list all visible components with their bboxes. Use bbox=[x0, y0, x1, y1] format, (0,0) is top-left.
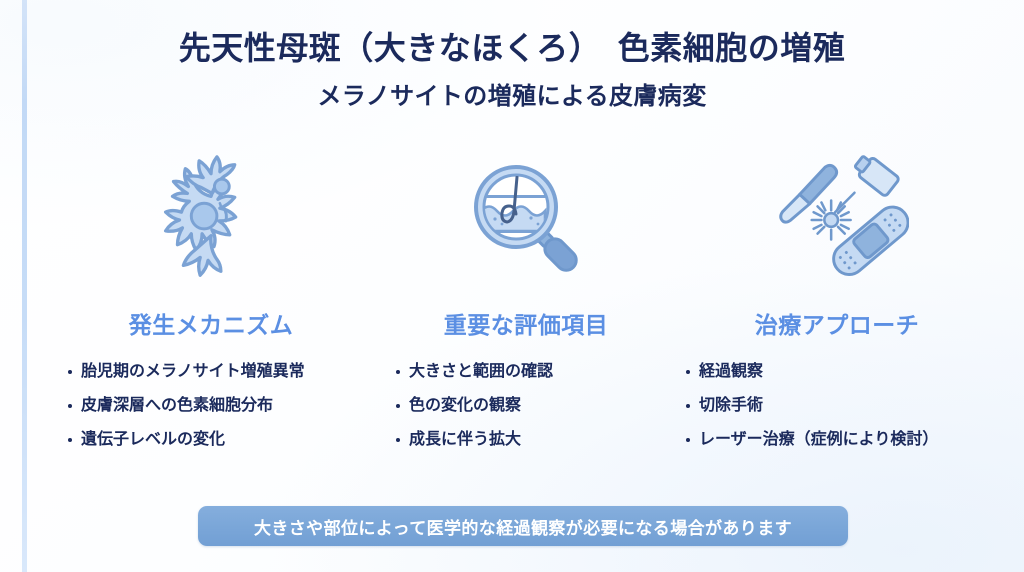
page-title: 先天性母斑（大きなほくろ） 色素細胞の増殖 bbox=[0, 28, 1024, 68]
column-heading-treatment: 治療アプローチ bbox=[755, 312, 920, 340]
column-assessment: 重要な評価項目 大きさと範囲の確認 色の変化の観察 成長に伴う拡大 bbox=[376, 150, 676, 464]
column-heading-assessment: 重要な評価項目 bbox=[444, 312, 609, 340]
skin-magnifier-icon bbox=[451, 150, 601, 290]
bullet-list-mechanism: 胎児期のメラノサイト増殖異常 皮膚深層への色素細胞分布 遺伝子レベルの変化 bbox=[46, 362, 398, 464]
slide-header: 先天性母斑（大きなほくろ） 色素細胞の増殖 メラノサイトの増殖による皮膚病変 bbox=[0, 28, 1024, 112]
treatment-tools-icon bbox=[762, 150, 912, 290]
bullet-list-assessment: 大きさと範囲の確認 色の変化の観察 成長に伴う拡大 bbox=[376, 362, 696, 464]
list-item: 経過観察 bbox=[686, 362, 1008, 382]
bullet-list-treatment: 経過観察 切除手術 レーザー治療（症例により検討） bbox=[676, 362, 1008, 464]
footer-note-banner: 大きさや部位によって医学的な経過観察が必要になる場合があります bbox=[198, 506, 848, 546]
list-item: 色の変化の観察 bbox=[396, 396, 696, 416]
slide-root: 先天性母斑（大きなほくろ） 色素細胞の増殖 メラノサイトの増殖による皮膚病変 bbox=[0, 0, 1024, 572]
list-item: 遺伝子レベルの変化 bbox=[68, 430, 398, 450]
list-item: 切除手術 bbox=[686, 396, 1008, 416]
list-item: 胎児期のメラノサイト増殖異常 bbox=[68, 362, 398, 382]
page-subtitle: メラノサイトの増殖による皮膚病変 bbox=[0, 82, 1024, 112]
melanocyte-cell-icon bbox=[136, 150, 286, 290]
list-item: 成長に伴う拡大 bbox=[396, 430, 696, 450]
list-item: 皮膚深層への色素細胞分布 bbox=[68, 396, 398, 416]
column-mechanism: 発生メカニズム 胎児期のメラノサイト増殖異常 皮膚深層への色素細胞分布 遺伝子レ… bbox=[46, 150, 376, 464]
column-heading-mechanism: 発生メカニズム bbox=[129, 312, 294, 340]
list-item: 大きさと範囲の確認 bbox=[396, 362, 696, 382]
column-treatment: 治療アプローチ 経過観察 切除手術 レーザー治療（症例により検討） bbox=[676, 150, 998, 464]
list-item: レーザー治療（症例により検討） bbox=[686, 430, 1008, 450]
columns-container: 発生メカニズム 胎児期のメラノサイト増殖異常 皮膚深層への色素細胞分布 遺伝子レ… bbox=[46, 150, 998, 470]
